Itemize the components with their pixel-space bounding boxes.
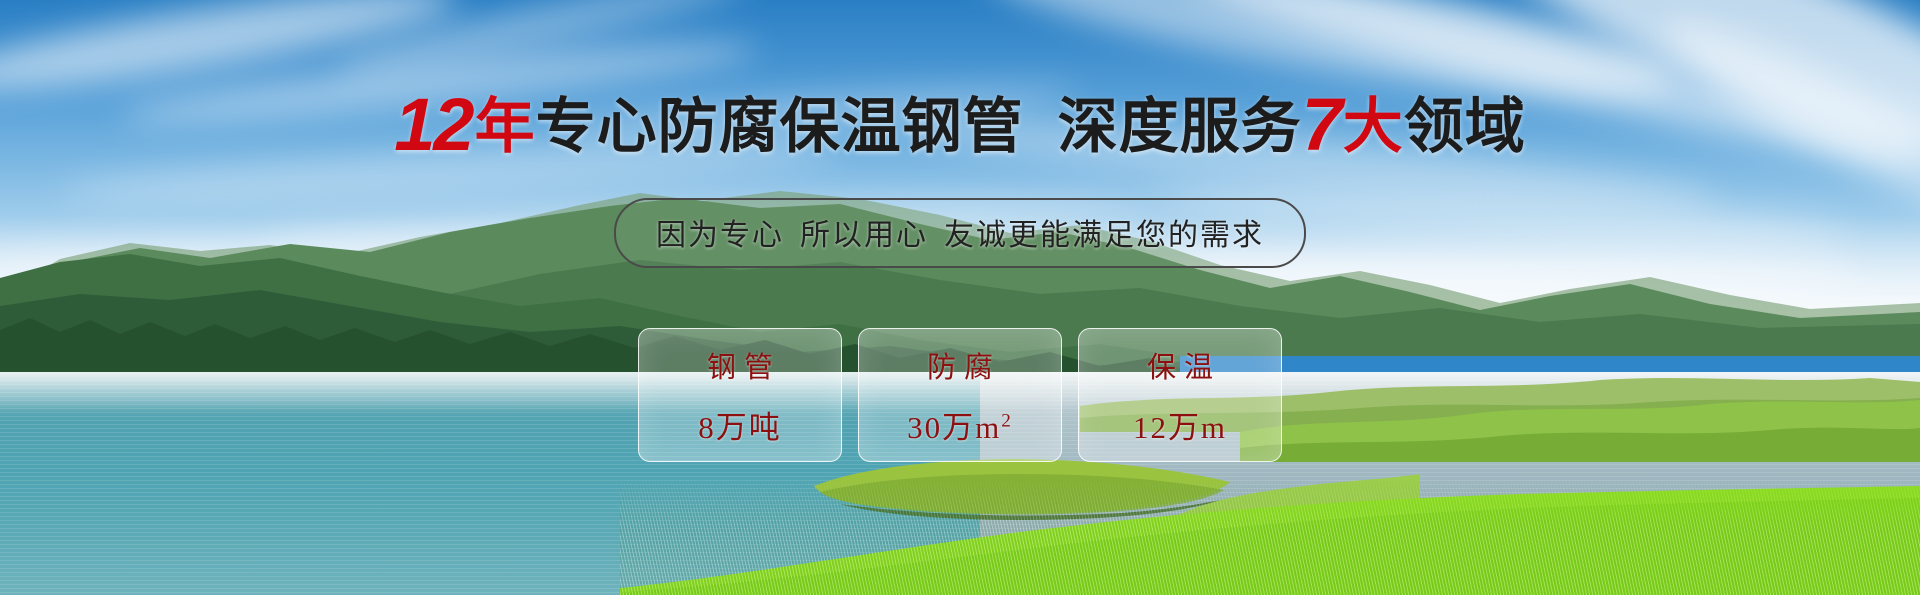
subtitle-segment-1: 因为专心 xyxy=(656,219,784,252)
headline-text-tertiary: 领域 xyxy=(1404,93,1526,160)
headline-text-secondary: 深度服务 xyxy=(1058,93,1302,160)
stat-card-title: 钢管 xyxy=(699,344,781,386)
hero-banner: 12年专心防腐保温钢管深度服务7大领域 因为专心所以用心友诚更能满足您的需求 钢… xyxy=(0,0,1920,595)
stat-card-steel-pipe[interactable]: 钢管 8万吨 xyxy=(638,328,842,462)
mid-wetland-grass xyxy=(1240,392,1920,462)
subtitle-pill: 因为专心所以用心友诚更能满足您的需求 xyxy=(614,198,1306,268)
stat-card-value-superscript: 2 xyxy=(1001,410,1013,431)
stat-card-value: 12万m xyxy=(1133,402,1227,447)
banner-headline: 12年专心防腐保温钢管深度服务7大领域 xyxy=(0,88,1920,162)
headline-text-primary: 专心防腐保温钢管 xyxy=(536,93,1024,160)
stat-card-value: 8万吨 xyxy=(698,402,782,447)
stat-card-group: 钢管 8万吨 防腐 30万m2 保温 12万m xyxy=(638,328,1282,462)
stat-card-title: 防腐 xyxy=(919,344,1001,386)
headline-years-number: 12 xyxy=(394,83,474,166)
headline-fields-unit: 大 xyxy=(1343,93,1404,160)
headline-years-unit: 年 xyxy=(475,93,536,160)
subtitle-segment-2: 所以用心 xyxy=(800,219,928,252)
grass-blade-texture xyxy=(620,482,1920,595)
subtitle-segment-3: 友诚更能满足您的需求 xyxy=(944,219,1264,252)
stat-card-value: 30万m2 xyxy=(907,402,1013,447)
headline-fields-number: 7 xyxy=(1302,83,1343,166)
stat-card-anticorrosion[interactable]: 防腐 30万m2 xyxy=(858,328,1062,462)
stat-card-insulation[interactable]: 保温 12万m xyxy=(1078,328,1282,462)
stat-card-title: 保温 xyxy=(1139,344,1221,386)
